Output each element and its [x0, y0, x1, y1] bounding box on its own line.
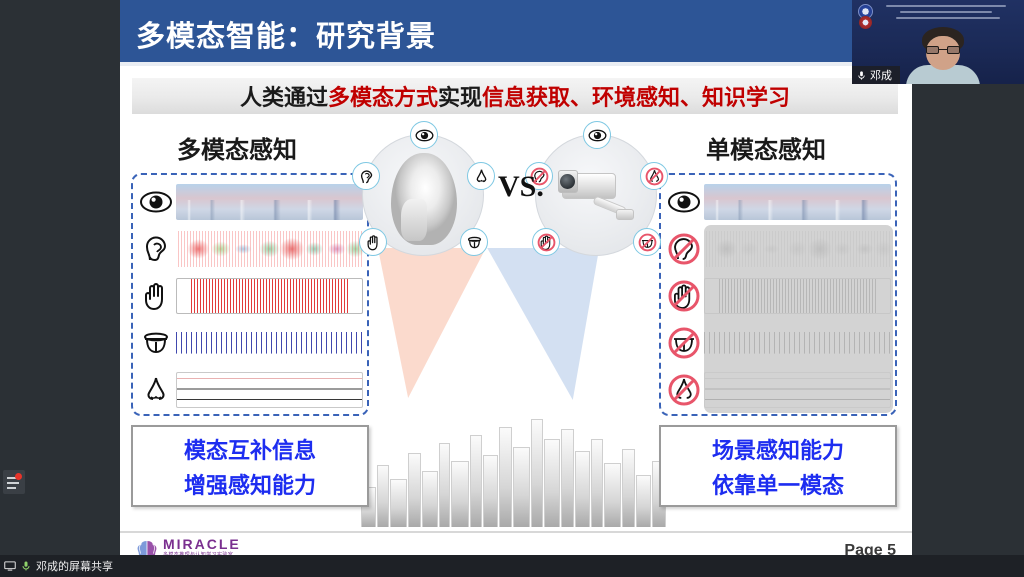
signal-city-skyline [176, 184, 363, 220]
modality-row-vision [667, 184, 891, 220]
page-title: 多模态智能：研究背景 [136, 13, 436, 55]
tongue-blocked-icon [633, 228, 661, 256]
tongue-icon [460, 228, 488, 256]
signal-city-skyline [704, 184, 891, 220]
participant-video-figure [904, 27, 982, 84]
left-conclusion-line-1: 模态互补信息 [184, 433, 316, 465]
signal-vibration-waveform-disabled [704, 325, 891, 361]
vs-label: VS. [498, 170, 544, 204]
cityscape-render [357, 392, 672, 527]
badge-dot [15, 473, 22, 480]
human-sense-hub [362, 134, 484, 256]
camera-base [616, 209, 634, 220]
camera-lens [560, 174, 575, 189]
left-column-heading: 多模态感知 [177, 130, 297, 165]
screen-share-status-bar: 邓成的屏幕共享 [0, 555, 1024, 577]
conference-emblem-secondary-icon [859, 16, 872, 29]
nose-icon [139, 373, 173, 407]
right-conclusion-line-1: 场景感知能力 [712, 433, 844, 465]
left-conclusion-line-2: 增强感知能力 [184, 468, 316, 500]
left-conclusion-box: 模态互补信息 增强感知能力 [131, 425, 369, 507]
camera-sense-hub [535, 134, 657, 256]
modality-row-vision [139, 184, 363, 220]
signal-gas-lineplot-disabled [704, 372, 891, 408]
subtitle-part-4: 信息获取、环境感知、知识学习 [482, 85, 790, 110]
ear-icon [139, 232, 173, 266]
signal-audio-waveform [176, 231, 363, 267]
icon-line [7, 487, 16, 489]
backdrop-text-line [900, 11, 992, 13]
right-column-heading: 单模态感知 [706, 130, 826, 165]
modality-row-smell [139, 372, 363, 408]
signal-gas-lineplot [176, 372, 363, 408]
modality-row-smell-blocked [667, 372, 891, 408]
surveillance-camera-figure [558, 169, 638, 225]
modality-row-hearing-blocked [667, 231, 891, 267]
footer-divider [120, 531, 912, 533]
comparison-illustration: VS. [352, 122, 680, 422]
unimodal-signal-panel [659, 173, 897, 416]
ear-icon [352, 162, 380, 190]
icon-line [7, 482, 19, 484]
logo-wordmark: MIRACLE [163, 537, 245, 551]
modality-row-touch-blocked [667, 278, 891, 314]
microphone-icon [856, 70, 867, 81]
signal-pressure-plot [176, 278, 363, 314]
subtitle-part-3: 实现 [438, 85, 482, 110]
subtitle-part-1: 人类通过 [240, 85, 328, 110]
hand-icon [139, 279, 173, 313]
signal-pressure-plot-disabled [704, 278, 891, 314]
nose-blocked-icon [640, 162, 668, 190]
share-status-label: 邓成的屏幕共享 [36, 558, 113, 574]
human-head-figure [391, 153, 457, 245]
monitor-icon [4, 560, 16, 572]
eye-icon [583, 121, 611, 149]
multimodal-signal-panel [131, 173, 369, 416]
participant-name: 邓成 [870, 67, 892, 83]
modality-row-touch [139, 278, 363, 314]
banner-underline [120, 62, 912, 66]
eye-icon [139, 185, 173, 219]
backdrop-text-line [896, 17, 1000, 19]
nose-icon [467, 162, 495, 190]
screen-share-desktop: 多模态智能：研究背景 人类通过多模态方式实现信息获取、环境感知、知识学习 多模态… [0, 0, 1024, 577]
desktop-notification-icon[interactable] [3, 470, 25, 494]
right-conclusion-box: 场景感知能力 依靠单一模态 [659, 425, 897, 507]
webcam-video-tile[interactable]: 邓成 [852, 0, 1024, 84]
glasses-icon [926, 46, 960, 54]
signal-vibration-waveform [176, 325, 363, 361]
modality-row-taste [139, 325, 363, 361]
subtitle-banner: 人类通过多模态方式实现信息获取、环境感知、知识学习 [132, 78, 898, 114]
hand-blocked-icon [532, 228, 560, 256]
eye-icon [410, 121, 438, 149]
hand-icon [359, 228, 387, 256]
right-conclusion-line-2: 依靠单一模态 [712, 468, 844, 500]
slide-title-banner: 多模态智能：研究背景 [120, 0, 912, 62]
microphone-icon[interactable] [20, 560, 32, 572]
backdrop-text-line [886, 5, 1006, 7]
participant-name-bar: 邓成 [852, 66, 900, 84]
tongue-icon [139, 326, 173, 360]
subtitle-part-2: 多模态方式 [328, 85, 438, 110]
camera-perception-beam [487, 248, 629, 400]
signal-audio-waveform-disabled [704, 231, 891, 267]
modality-row-hearing [139, 231, 363, 267]
human-perception-beam [354, 248, 486, 398]
modality-row-taste-blocked [667, 325, 891, 361]
presentation-slide: 多模态智能：研究背景 人类通过多模态方式实现信息获取、环境感知、知识学习 多模态… [120, 0, 912, 566]
